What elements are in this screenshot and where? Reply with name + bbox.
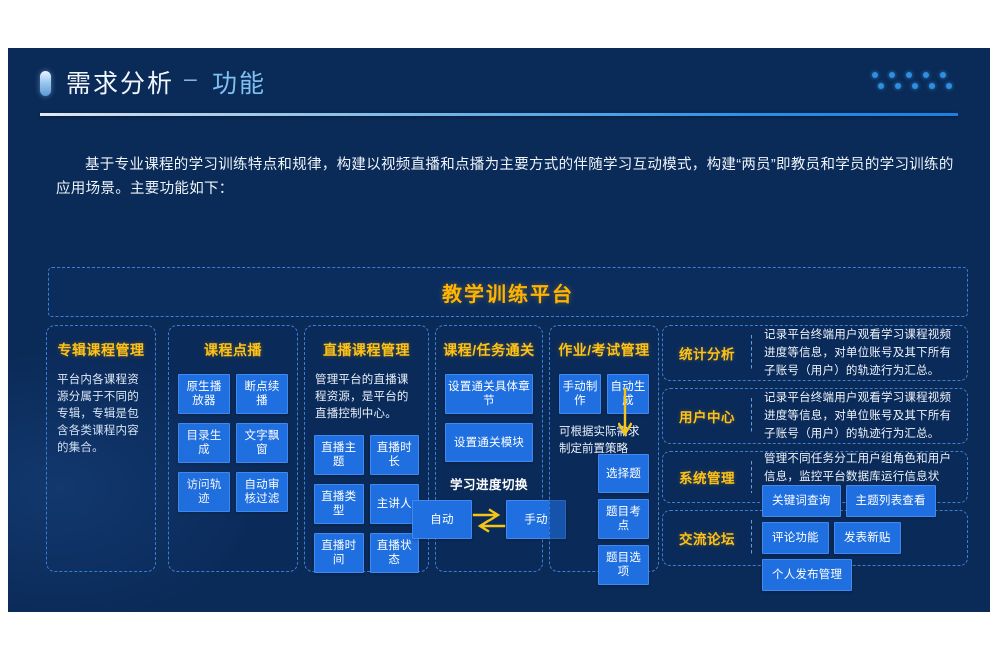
feature-column-course-vod[interactable]: 课程点播 原生播放器 断点续播 目录生成 文字飘窗 访问轨迹 自动审核过滤 <box>168 325 298 572</box>
feature-button[interactable]: 直播时长 <box>370 435 420 475</box>
feature-column-album-course[interactable]: 专辑课程管理 平台内各课程资源分属于不同的专辑，专辑是包含各类课程内容的集合。 <box>46 325 156 572</box>
feature-column-task-clearance[interactable]: 课程/任务通关 设置通关具体章节 设置通关模块 学习进度切换 自动 手动 <box>435 325 543 572</box>
feature-button[interactable]: 选择题 <box>598 454 649 493</box>
button-row: 原生播放器 断点续播 <box>178 374 288 414</box>
intro-paragraph: 基于专业课程的学习训练特点和规律，构建以视频直播和点播为主要方式的伴随学习互动模… <box>56 153 956 201</box>
header-underline <box>40 113 958 116</box>
feature-button[interactable]: 直播时间 <box>314 533 364 573</box>
column-description: 管理平台的直播课程资源，是平台的直播控制中心。 <box>315 372 418 423</box>
column-description: 平台内各课程资源分属于不同的专辑，专辑是包含各类课程内容的集合。 <box>57 372 145 457</box>
feature-button[interactable]: 自动审核过滤 <box>236 472 288 512</box>
platform-banner-title: 教学训练平台 <box>442 278 574 307</box>
bidirectional-arrow-icon <box>472 507 506 533</box>
feature-button[interactable]: 设置通关具体章节 <box>445 374 533 414</box>
button-row: 直播时间 直播状态 <box>314 533 419 573</box>
title-separator: – <box>184 65 197 92</box>
module-label: 系统管理 <box>663 467 751 487</box>
feature-button[interactable]: 主题列表查看 <box>846 485 936 517</box>
feature-button[interactable]: 直播状态 <box>370 533 420 573</box>
header-pill-icon <box>40 71 51 96</box>
module-label: 统计分析 <box>663 343 751 363</box>
feature-button[interactable]: 直播类型 <box>314 484 364 524</box>
button-row: 手动制作 自动生成 <box>559 374 649 414</box>
button-row: 选择题 <box>598 454 649 493</box>
module-label: 用户中心 <box>663 406 751 426</box>
feature-column-exam-management[interactable]: 作业/考试管理 手动制作 自动生成 可根据实际需求制定前置策略 选择题 题目考点… <box>549 325 659 572</box>
button-row: 题目考点 <box>598 499 649 539</box>
module-row-forum[interactable]: 交流论坛 关键词查询 主题列表查看 评论功能 发表新贴 个人发布管理 <box>662 510 968 566</box>
page-subtitle: 功能 <box>212 64 266 100</box>
feature-button[interactable]: 题目选项 <box>598 545 649 585</box>
column-title: 课程/任务通关 <box>436 340 542 360</box>
feature-column-live-course[interactable]: 直播课程管理 管理平台的直播课程资源，是平台的直播控制中心。 直播主题 直播时长… <box>304 325 429 572</box>
intro-paragraph-block: 基于专业课程的学习训练特点和规律，构建以视频直播和点播为主要方式的伴随学习互动模… <box>56 153 956 201</box>
platform-banner: 教学训练平台 <box>48 267 968 317</box>
button-row: 直播主题 直播时长 <box>314 435 419 475</box>
module-description: 记录平台终端用户观看学习课程视频进度等信息，对单位账号及其下所有子账号（用户）的… <box>752 326 967 380</box>
feature-button[interactable]: 文字飘窗 <box>236 423 288 463</box>
feature-button[interactable]: 发表新贴 <box>834 522 901 554</box>
button-row: 设置通关模块 <box>445 423 533 462</box>
decoration-dots-icon <box>872 70 956 96</box>
feature-button[interactable]: 原生播放器 <box>178 374 230 414</box>
page-title: 需求分析 <box>66 64 174 100</box>
column-title: 专辑课程管理 <box>47 340 155 360</box>
module-description: 记录平台终端用户观看学习课程视频进度等信息，对单位账号及其下所有子账号（用户）的… <box>752 389 967 443</box>
feature-columns-area: 专辑课程管理 平台内各课程资源分属于不同的专辑，专辑是包含各类课程内容的集合。 … <box>46 325 968 572</box>
right-modules-stack: 统计分析 记录平台终端用户观看学习课程视频进度等信息，对单位账号及其下所有子账号… <box>662 325 968 572</box>
feature-button[interactable]: 目录生成 <box>178 423 230 463</box>
mode-switch[interactable]: 自动 手动 <box>444 500 534 539</box>
feature-button[interactable]: 设置通关模块 <box>445 423 533 462</box>
slide-canvas: 需求分析 – 功能 基于专业课程的学习训练特点和规律，构建以视频直播和点播为主要… <box>8 48 990 612</box>
feature-button[interactable]: 断点续播 <box>236 374 288 414</box>
column-title: 课程点播 <box>169 340 297 360</box>
feature-button[interactable]: 题目考点 <box>598 499 649 539</box>
feature-button[interactable]: 访问轨迹 <box>178 472 230 512</box>
module-button-group: 关键词查询 主题列表查看 评论功能 发表新贴 个人发布管理 <box>752 485 967 591</box>
button-row: 题目选项 <box>598 545 649 585</box>
switch-option-auto[interactable]: 自动 <box>412 500 472 539</box>
button-row: 目录生成 文字飘窗 <box>178 423 288 463</box>
column-title: 直播课程管理 <box>305 340 428 360</box>
column-note: 可根据实际需求制定前置策略 <box>559 424 649 458</box>
module-row-statistics[interactable]: 统计分析 记录平台终端用户观看学习课程视频进度等信息，对单位账号及其下所有子账号… <box>662 325 968 381</box>
feature-button[interactable]: 关键词查询 <box>762 485 841 517</box>
button-row: 直播类型 主讲人 <box>314 484 419 524</box>
switch-label: 学习进度切换 <box>436 474 542 493</box>
feature-button[interactable]: 个人发布管理 <box>762 559 852 591</box>
slide-header: 需求分析 – 功能 <box>40 62 958 118</box>
module-label: 交流论坛 <box>663 528 751 548</box>
feature-button[interactable]: 评论功能 <box>762 522 829 554</box>
feature-button[interactable]: 手动制作 <box>559 374 601 414</box>
column-title: 作业/考试管理 <box>550 340 658 360</box>
module-row-user-center[interactable]: 用户中心 记录平台终端用户观看学习课程视频进度等信息，对单位账号及其下所有子账号… <box>662 388 968 444</box>
button-row: 访问轨迹 自动审核过滤 <box>178 472 288 512</box>
down-arrow-icon <box>618 388 632 440</box>
feature-button[interactable]: 直播主题 <box>314 435 364 475</box>
button-row: 设置通关具体章节 <box>445 374 533 414</box>
